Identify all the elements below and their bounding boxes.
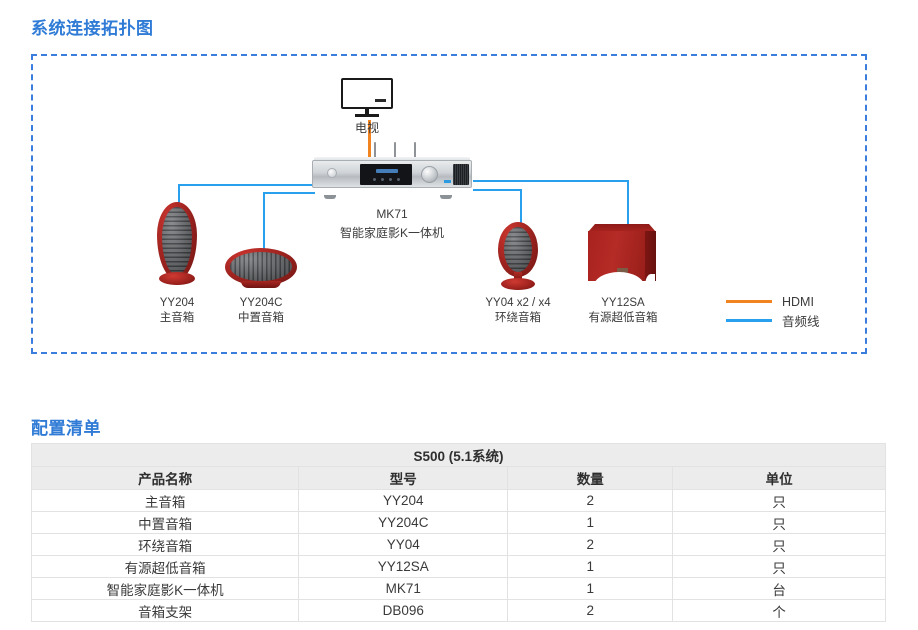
cell-unit: 只 [673,556,886,578]
tv-label: 电视 [330,119,404,136]
amplifier-display-dot [381,178,384,181]
page-title-config: 配置清单 [31,414,101,439]
cell-model: YY04 [299,534,508,556]
column-header-unit: 单位 [673,467,886,490]
legend-item-audio: 音频线 [726,311,846,330]
tv-stand-base [355,114,379,117]
amplifier-small-knob [327,168,337,178]
table-column-header-row: 产品名称 型号 数量 单位 [32,467,886,490]
table-row: 主音箱 YY204 2 只 [32,490,886,512]
cell-product: 有源超低音箱 [32,556,299,578]
audio-cable-sub-horizontal [473,180,629,182]
cell-product: 环绕音箱 [32,534,299,556]
label-model: YY12SA [577,296,669,311]
cell-unit: 只 [673,490,886,512]
tv-indicator [375,99,386,102]
audio-cable-center-horizontal [263,192,315,194]
amplifier-display [360,164,412,185]
cell-product: 音箱支架 [32,600,299,622]
label-name: 环绕音箱 [463,311,573,326]
label-center-speaker: YY204C 中置音箱 [215,296,307,326]
cell-model: DB096 [299,600,508,622]
amplifier-display-dot [373,178,376,181]
table-row: 音箱支架 DB096 2 个 [32,600,886,622]
amplifier-foot [324,195,336,199]
audio-cable-surround-horizontal [473,189,521,191]
table-head: S500 (5.1系统) 产品名称 型号 数量 单位 [32,444,886,490]
audio-cable-center-vertical [263,192,265,252]
label-name: 有源超低音箱 [577,311,669,326]
cell-unit: 只 [673,534,886,556]
legend-label-audio: 音频线 [782,311,820,330]
cell-qty: 2 [508,600,673,622]
subwoofer-foot-arch [645,274,655,286]
label-subwoofer: YY12SA 有源超低音箱 [577,296,669,326]
speaker-base [241,281,281,288]
amplifier-model-label: MK71 [312,207,472,221]
amplifier-display-text [376,169,398,173]
label-surround-speaker: YY04 x2 / x4 环绕音箱 [463,296,573,326]
page-title-topology: 系统连接拓扑图 [31,14,154,39]
table-span-header-row: S500 (5.1系统) [32,444,886,467]
amplifier-chassis [312,160,472,188]
legend-label-hdmi: HDMI [782,295,814,309]
speaker-cone [230,252,292,281]
amplifier-name-label: 智能家庭影K一体机 [302,224,482,241]
cell-model: YY12SA [299,556,508,578]
tv-icon [341,78,393,118]
cell-unit: 个 [673,600,886,622]
cell-qty: 1 [508,556,673,578]
column-header-product: 产品名称 [32,467,299,490]
cell-product: 中置音箱 [32,512,299,534]
table-span-header: S500 (5.1系统) [32,444,886,467]
subwoofer-yy12sa [588,224,656,288]
cell-model: YY204C [299,512,508,534]
cell-unit: 只 [673,512,886,534]
label-name: 主音箱 [131,311,223,326]
tv-screen [341,78,393,109]
column-header-model: 型号 [299,467,508,490]
cell-qty: 1 [508,512,673,534]
audio-cable-sub-vertical [627,180,629,226]
label-main-speaker: YY204 主音箱 [131,296,223,326]
diagram-legend: HDMI 音频线 [726,292,846,330]
amplifier-vent-grill [453,164,469,185]
legend-swatch-hdmi [726,300,772,303]
speaker-base [159,272,195,285]
amplifier-foot [440,195,452,199]
table-row: 有源超低音箱 YY12SA 1 只 [32,556,886,578]
table-row: 环绕音箱 YY04 2 只 [32,534,886,556]
label-model: YY204C [215,296,307,311]
amplifier-device [312,160,472,196]
cell-model: MK71 [299,578,508,600]
amplifier-led [444,180,451,183]
speaker-base [501,278,535,290]
label-model: YY204 [131,296,223,311]
audio-cable-main-horizontal [178,184,315,186]
table-row: 中置音箱 YY204C 1 只 [32,512,886,534]
cell-qty: 1 [508,578,673,600]
cell-model: YY204 [299,490,508,512]
cell-qty: 2 [508,534,673,556]
speaker-cone [504,227,532,272]
cell-product: 主音箱 [32,490,299,512]
legend-swatch-audio [726,319,772,322]
amplifier-display-dot [397,178,400,181]
configuration-table: S500 (5.1系统) 产品名称 型号 数量 单位 主音箱 YY204 2 只… [31,443,886,622]
column-header-qty: 数量 [508,467,673,490]
label-model: YY04 x2 / x4 [463,296,573,311]
amplifier-volume-knob [421,166,438,183]
cell-product: 智能家庭影K一体机 [32,578,299,600]
label-name: 中置音箱 [215,311,307,326]
cell-qty: 2 [508,490,673,512]
cell-unit: 台 [673,578,886,600]
table-body: 主音箱 YY204 2 只 中置音箱 YY204C 1 只 环绕音箱 YY04 … [32,490,886,622]
amplifier-display-dot [389,178,392,181]
table-row: 智能家庭影K一体机 MK71 1 台 [32,578,886,600]
legend-item-hdmi: HDMI [726,292,846,311]
